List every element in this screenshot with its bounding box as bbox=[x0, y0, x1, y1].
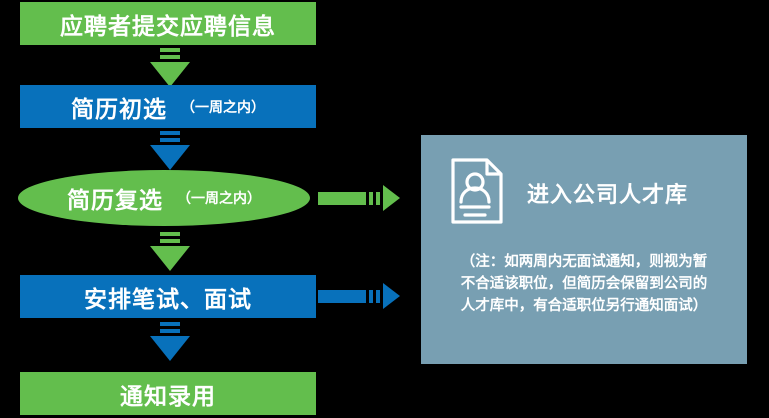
note-line: 不合适该职位，但简历会保留到公司的 bbox=[439, 273, 729, 295]
arrow-head-icon bbox=[150, 246, 190, 271]
flow-node-offer-label: 通知录用 bbox=[120, 377, 216, 411]
connector-arrow-down-screen1-to-screen2 bbox=[150, 131, 190, 170]
arrow-segment bbox=[160, 131, 180, 135]
connector-arrow-right-screen2-to-panel bbox=[318, 185, 400, 211]
flow-node-interview[interactable]: 安排笔试、面试 bbox=[20, 275, 316, 318]
flow-node-screen2-note: （一周之内） bbox=[177, 188, 261, 208]
connector-arrow-right-interview-to-panel bbox=[318, 283, 400, 309]
note-line: （注：如两周内无面试通知，则视为暂 bbox=[439, 251, 729, 273]
arrow-segment bbox=[160, 138, 180, 142]
flowchart-canvas: 应聘者提交应聘信息 简历初选 （一周之内） 简历复选 （一周之内） 安排笔试、面… bbox=[0, 0, 769, 418]
connector-arrow-down-interview-to-offer bbox=[150, 322, 190, 361]
arrow-segment bbox=[369, 290, 373, 303]
arrow-bar bbox=[318, 290, 366, 303]
arrow-head-icon bbox=[150, 336, 190, 361]
arrow-segment bbox=[160, 55, 180, 59]
arrow-segment bbox=[376, 290, 380, 303]
talent-pool-panel-title: 进入公司人才库 bbox=[527, 177, 688, 209]
arrow-segment bbox=[160, 329, 180, 333]
flow-node-screen2-label: 简历复选 bbox=[67, 181, 163, 215]
flow-node-screen2[interactable]: 简历复选 （一周之内） bbox=[18, 170, 310, 226]
arrow-segment bbox=[160, 239, 180, 243]
flow-node-interview-label: 安排笔试、面试 bbox=[84, 280, 252, 314]
talent-pool-panel-note: （注：如两周内无面试通知，则视为暂 不合适该职位，但简历会保留到公司的 人才库中… bbox=[421, 229, 747, 317]
arrow-segment bbox=[369, 192, 373, 205]
flow-node-screen1-note: （一周之内） bbox=[181, 97, 265, 117]
flow-node-screen1-label: 简历初选 bbox=[71, 90, 167, 124]
arrow-head-icon bbox=[383, 185, 400, 211]
flow-node-screen1[interactable]: 简历初选 （一周之内） bbox=[20, 85, 316, 128]
talent-pool-panel-header: 进入公司人才库 bbox=[421, 135, 747, 229]
flow-node-offer[interactable]: 通知录用 bbox=[20, 372, 316, 415]
arrow-segment bbox=[160, 322, 180, 326]
arrow-bar bbox=[318, 192, 366, 205]
arrow-head-icon bbox=[150, 145, 190, 170]
talent-pool-panel[interactable]: 进入公司人才库 （注：如两周内无面试通知，则视为暂 不合适该职位，但简历会保留到… bbox=[421, 135, 747, 364]
arrow-head-icon bbox=[150, 62, 190, 87]
connector-arrow-down-screen2-to-interview bbox=[150, 232, 190, 271]
note-line: 人才库中，有合适职位另行通知面试） bbox=[439, 295, 729, 317]
arrow-segment bbox=[160, 232, 180, 236]
arrow-segment bbox=[376, 192, 380, 205]
flow-node-submit[interactable]: 应聘者提交应聘信息 bbox=[20, 2, 316, 45]
flow-node-submit-label: 应聘者提交应聘信息 bbox=[60, 7, 276, 41]
person-document-icon bbox=[449, 157, 505, 229]
arrow-head-icon bbox=[383, 283, 400, 309]
connector-arrow-down-submit-to-screen1 bbox=[150, 48, 190, 87]
arrow-segment bbox=[160, 48, 180, 52]
